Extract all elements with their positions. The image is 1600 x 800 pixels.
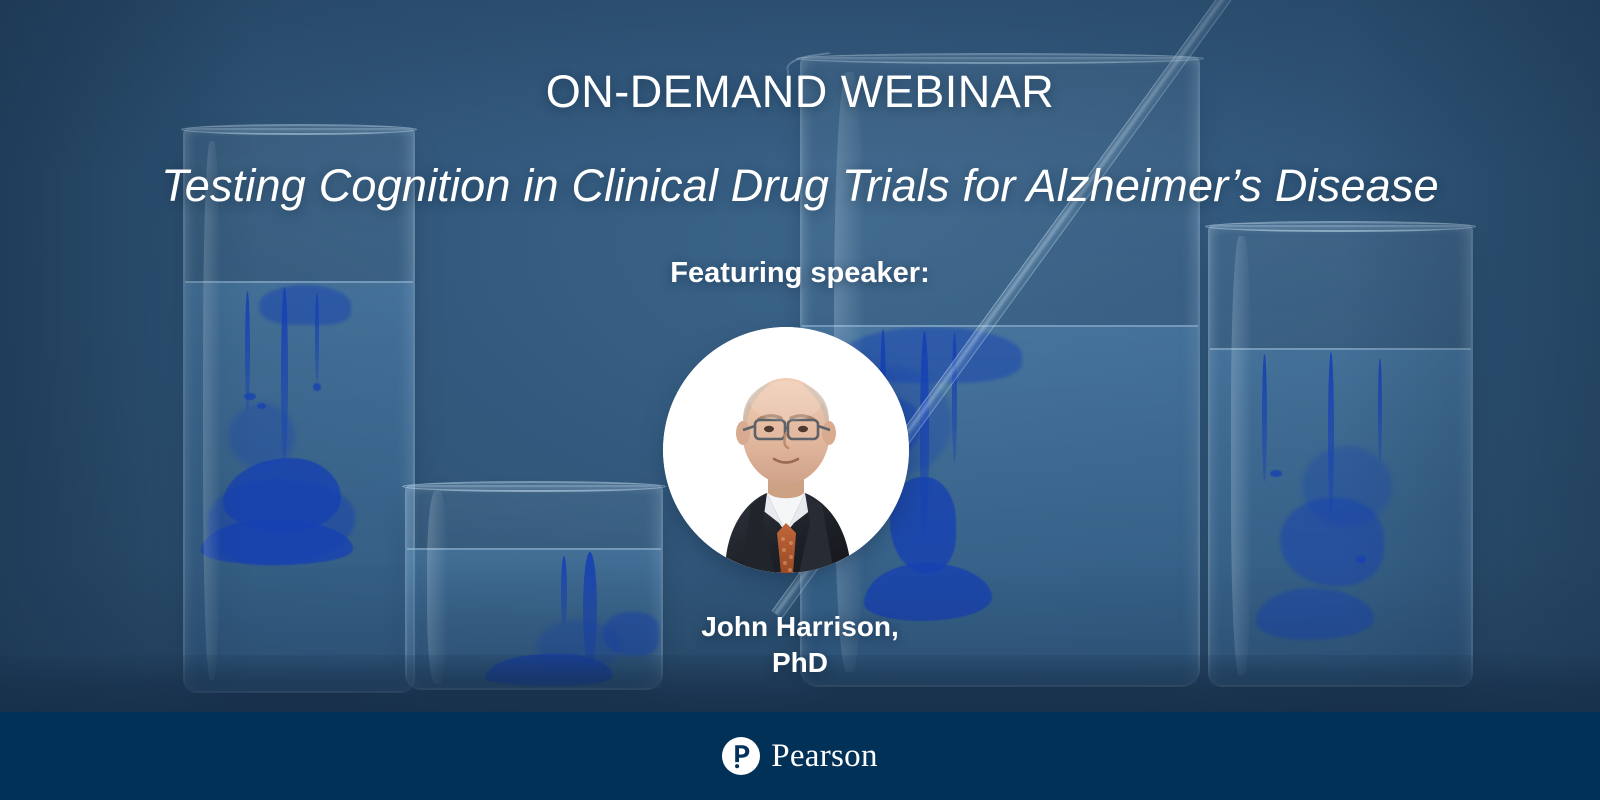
speaker-avatar xyxy=(663,327,909,573)
interrobang-glyph xyxy=(726,741,756,771)
page-title: Testing Cognition in Clinical Drug Trial… xyxy=(0,160,1600,212)
footer-bar: Pearson xyxy=(0,712,1600,800)
pearson-interrobang-icon xyxy=(722,737,760,775)
speaker-name-line-1: John Harrison, xyxy=(701,611,899,642)
pearson-logo[interactable]: Pearson xyxy=(722,737,878,775)
webinar-promo-card: ON-DEMAND WEBINAR Testing Cognition in C… xyxy=(0,0,1600,800)
featuring-speaker-label: Featuring speaker: xyxy=(0,257,1600,290)
pearson-wordmark: Pearson xyxy=(771,740,878,773)
speaker-name: John Harrison, PhD xyxy=(0,609,1600,681)
promo-content: ON-DEMAND WEBINAR Testing Cognition in C… xyxy=(0,0,1600,800)
webinar-kicker: ON-DEMAND WEBINAR xyxy=(0,66,1600,118)
speaker-name-line-2: PhD xyxy=(772,647,828,678)
speaker-photo-illustration xyxy=(663,327,909,573)
